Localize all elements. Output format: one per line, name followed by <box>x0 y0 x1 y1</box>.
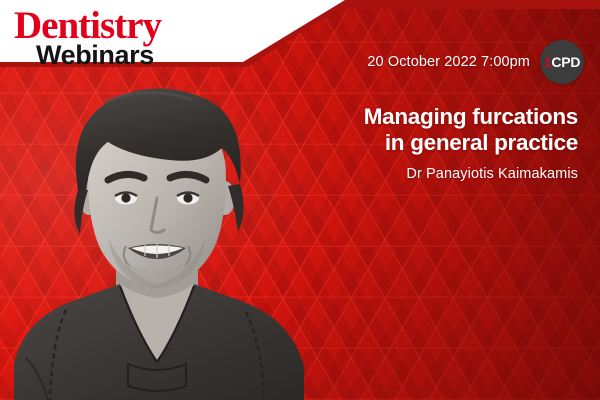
webinar-title-line-2: in general practice <box>278 130 578 156</box>
webinar-promo-banner: Dentistry Webinars <box>0 0 600 400</box>
logo-webinars-text: Webinars <box>36 42 161 69</box>
dentistry-webinars-logo[interactable]: Dentistry Webinars <box>14 6 161 69</box>
webinar-datetime: 20 October 2022 7:00pm <box>367 54 530 70</box>
cpd-count: 1 <box>544 54 552 70</box>
presenter-photo <box>8 72 308 400</box>
title-block: Managing furcations in general practice … <box>278 104 578 182</box>
meta-row: 20 October 2022 7:00pm 1CPD <box>367 40 584 84</box>
cpd-badge: 1CPD <box>540 40 584 84</box>
cpd-label: CPD <box>551 54 580 70</box>
webinar-title-line-1: Managing furcations <box>278 104 578 130</box>
webinar-speaker: Dr Panayiotis Kaimakamis <box>278 166 578 182</box>
